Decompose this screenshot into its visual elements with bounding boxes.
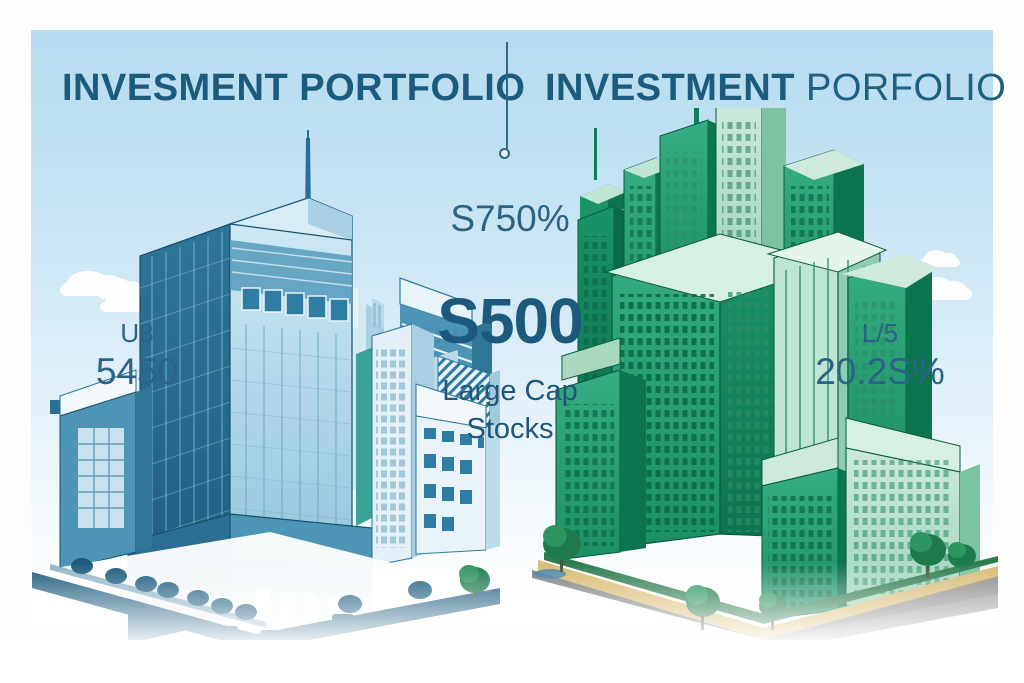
center-percent-top: S750% [380,198,640,240]
center-headline-stat: S500 [360,284,660,358]
left-stat-label: U8 [72,318,202,349]
right-heading: INVESTMENT PORFOLIO [545,67,1006,110]
center-subtitle-line1: Large Cap [442,375,577,407]
right-heading-bold: INVESTMENT [545,67,795,109]
infographic-canvas: INVESMENT PORTFOLIO INVESTMENT PORFOLIO … [0,0,1024,683]
right-heading-light: PORFOLIO [806,67,1006,109]
right-stat-block: L/5 20.2S% [800,318,960,393]
right-stat-value: 20.2S% [800,351,960,393]
left-heading: INVESMENT PORTFOLIO [62,67,525,110]
divider-dot-icon [499,148,510,159]
left-stat-block: U8 5450 [72,318,202,393]
divider-line [506,42,508,152]
center-subtitle: Large Cap Stocks [380,372,640,448]
left-stat-value: 5450 [72,351,202,393]
center-subtitle-line2: Stocks [466,413,553,445]
right-stat-label: L/5 [800,318,960,349]
